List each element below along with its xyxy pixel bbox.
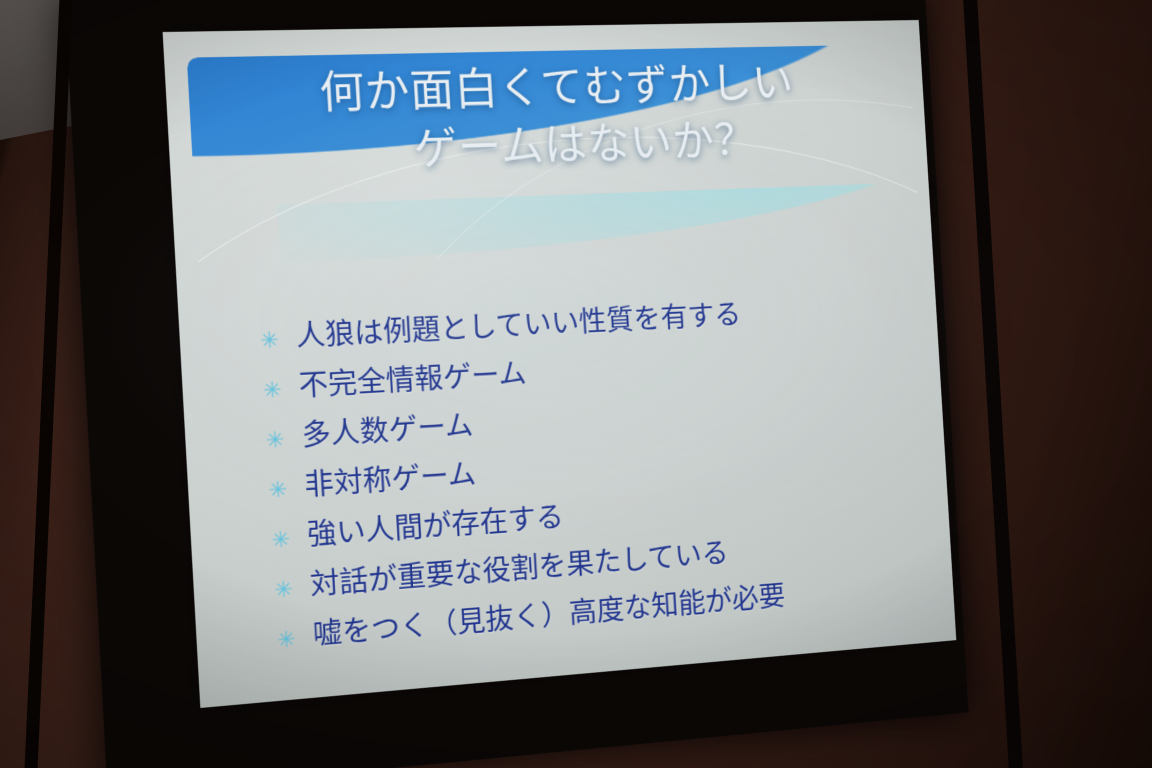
header-teal-accent: [277, 181, 923, 313]
asterisk-bullet-icon: ✳: [260, 329, 280, 352]
asterisk-bullet-icon: ✳: [265, 429, 285, 452]
asterisk-bullet-icon: ✳: [274, 578, 294, 601]
slide-bullet-list: ✳ 人狼は例題としていい性質を有する ✳ 不完全情報ゲーム ✳ 多人数ゲーム ✳…: [259, 294, 931, 675]
list-item-label: 強い人間が存在する: [307, 504, 565, 551]
asterisk-bullet-icon: ✳: [271, 528, 291, 551]
presentation-slide: 何か面白くてむずかしい ゲームはないか？ ✳ 人狼は例題としていい性質を有する …: [163, 20, 957, 708]
list-item-label: 多人数ゲーム: [301, 413, 474, 452]
asterisk-bullet-icon: ✳: [268, 479, 288, 502]
list-item-label: 非対称ゲーム: [304, 461, 477, 501]
photo-scene: 何か面白くてむずかしい ゲームはないか？ ✳ 人狼は例題としていい性質を有する …: [0, 0, 1152, 768]
list-item-label: 不完全情報ゲーム: [298, 361, 527, 402]
asterisk-bullet-icon: ✳: [262, 379, 282, 402]
list-item-label: 人狼は例題としていい性質を有する: [295, 302, 742, 352]
slide-title-line1: 何か面白くてむずかしい: [318, 59, 795, 118]
slide-title: 何か面白くてむずかしい ゲームはないか？: [196, 54, 906, 188]
asterisk-bullet-icon: ✳: [276, 628, 296, 652]
